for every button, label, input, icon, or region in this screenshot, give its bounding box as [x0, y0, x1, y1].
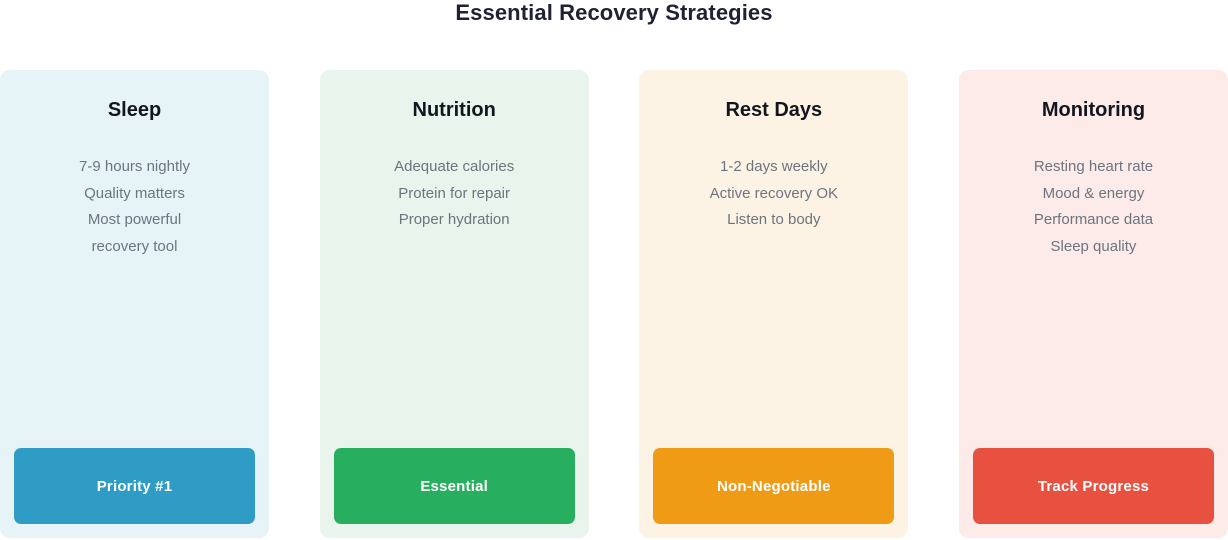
strategy-card-monitoring[interactable]: Monitoring Resting heart rate Mood & ene… — [959, 70, 1228, 538]
list-item: Proper hydration — [334, 207, 575, 234]
status-badge[interactable]: Priority #1 — [14, 448, 255, 524]
list-item: Quality matters — [14, 181, 255, 208]
list-item: 1-2 days weekly — [653, 154, 894, 181]
list-item: Protein for repair — [334, 181, 575, 208]
strategy-card-grid: Sleep 7-9 hours nightly Quality matters … — [0, 70, 1228, 538]
list-item: Adequate calories — [334, 154, 575, 181]
strategy-card-sleep[interactable]: Sleep 7-9 hours nightly Quality matters … — [0, 70, 269, 538]
list-item: Resting heart rate — [973, 154, 1214, 181]
list-item: Sleep quality — [973, 234, 1214, 261]
card-title: Monitoring — [1042, 98, 1145, 122]
card-title: Rest Days — [725, 98, 822, 122]
page-title: Essential Recovery Strategies — [0, 0, 1228, 26]
strategy-card-nutrition[interactable]: Nutrition Adequate calories Protein for … — [320, 70, 589, 538]
card-detail-list: Resting heart rate Mood & energy Perform… — [973, 154, 1214, 261]
list-item: recovery tool — [14, 234, 255, 261]
status-badge[interactable]: Non-Negotiable — [653, 448, 894, 524]
status-badge[interactable]: Essential — [334, 448, 575, 524]
list-item: Listen to body — [653, 207, 894, 234]
card-title: Sleep — [108, 98, 161, 122]
list-item: Performance data — [973, 207, 1214, 234]
strategy-card-rest-days[interactable]: Rest Days 1-2 days weekly Active recover… — [639, 70, 908, 538]
recovery-strategies-infographic: Essential Recovery Strategies Sleep 7-9 … — [0, 0, 1228, 540]
list-item: Most powerful — [14, 207, 255, 234]
list-item: 7-9 hours nightly — [14, 154, 255, 181]
card-detail-list: 1-2 days weekly Active recovery OK Liste… — [653, 154, 894, 234]
card-detail-list: 7-9 hours nightly Quality matters Most p… — [14, 154, 255, 261]
status-badge[interactable]: Track Progress — [973, 448, 1214, 524]
card-title: Nutrition — [413, 98, 496, 122]
list-item: Mood & energy — [973, 181, 1214, 208]
list-item: Active recovery OK — [653, 181, 894, 208]
card-detail-list: Adequate calories Protein for repair Pro… — [334, 154, 575, 234]
